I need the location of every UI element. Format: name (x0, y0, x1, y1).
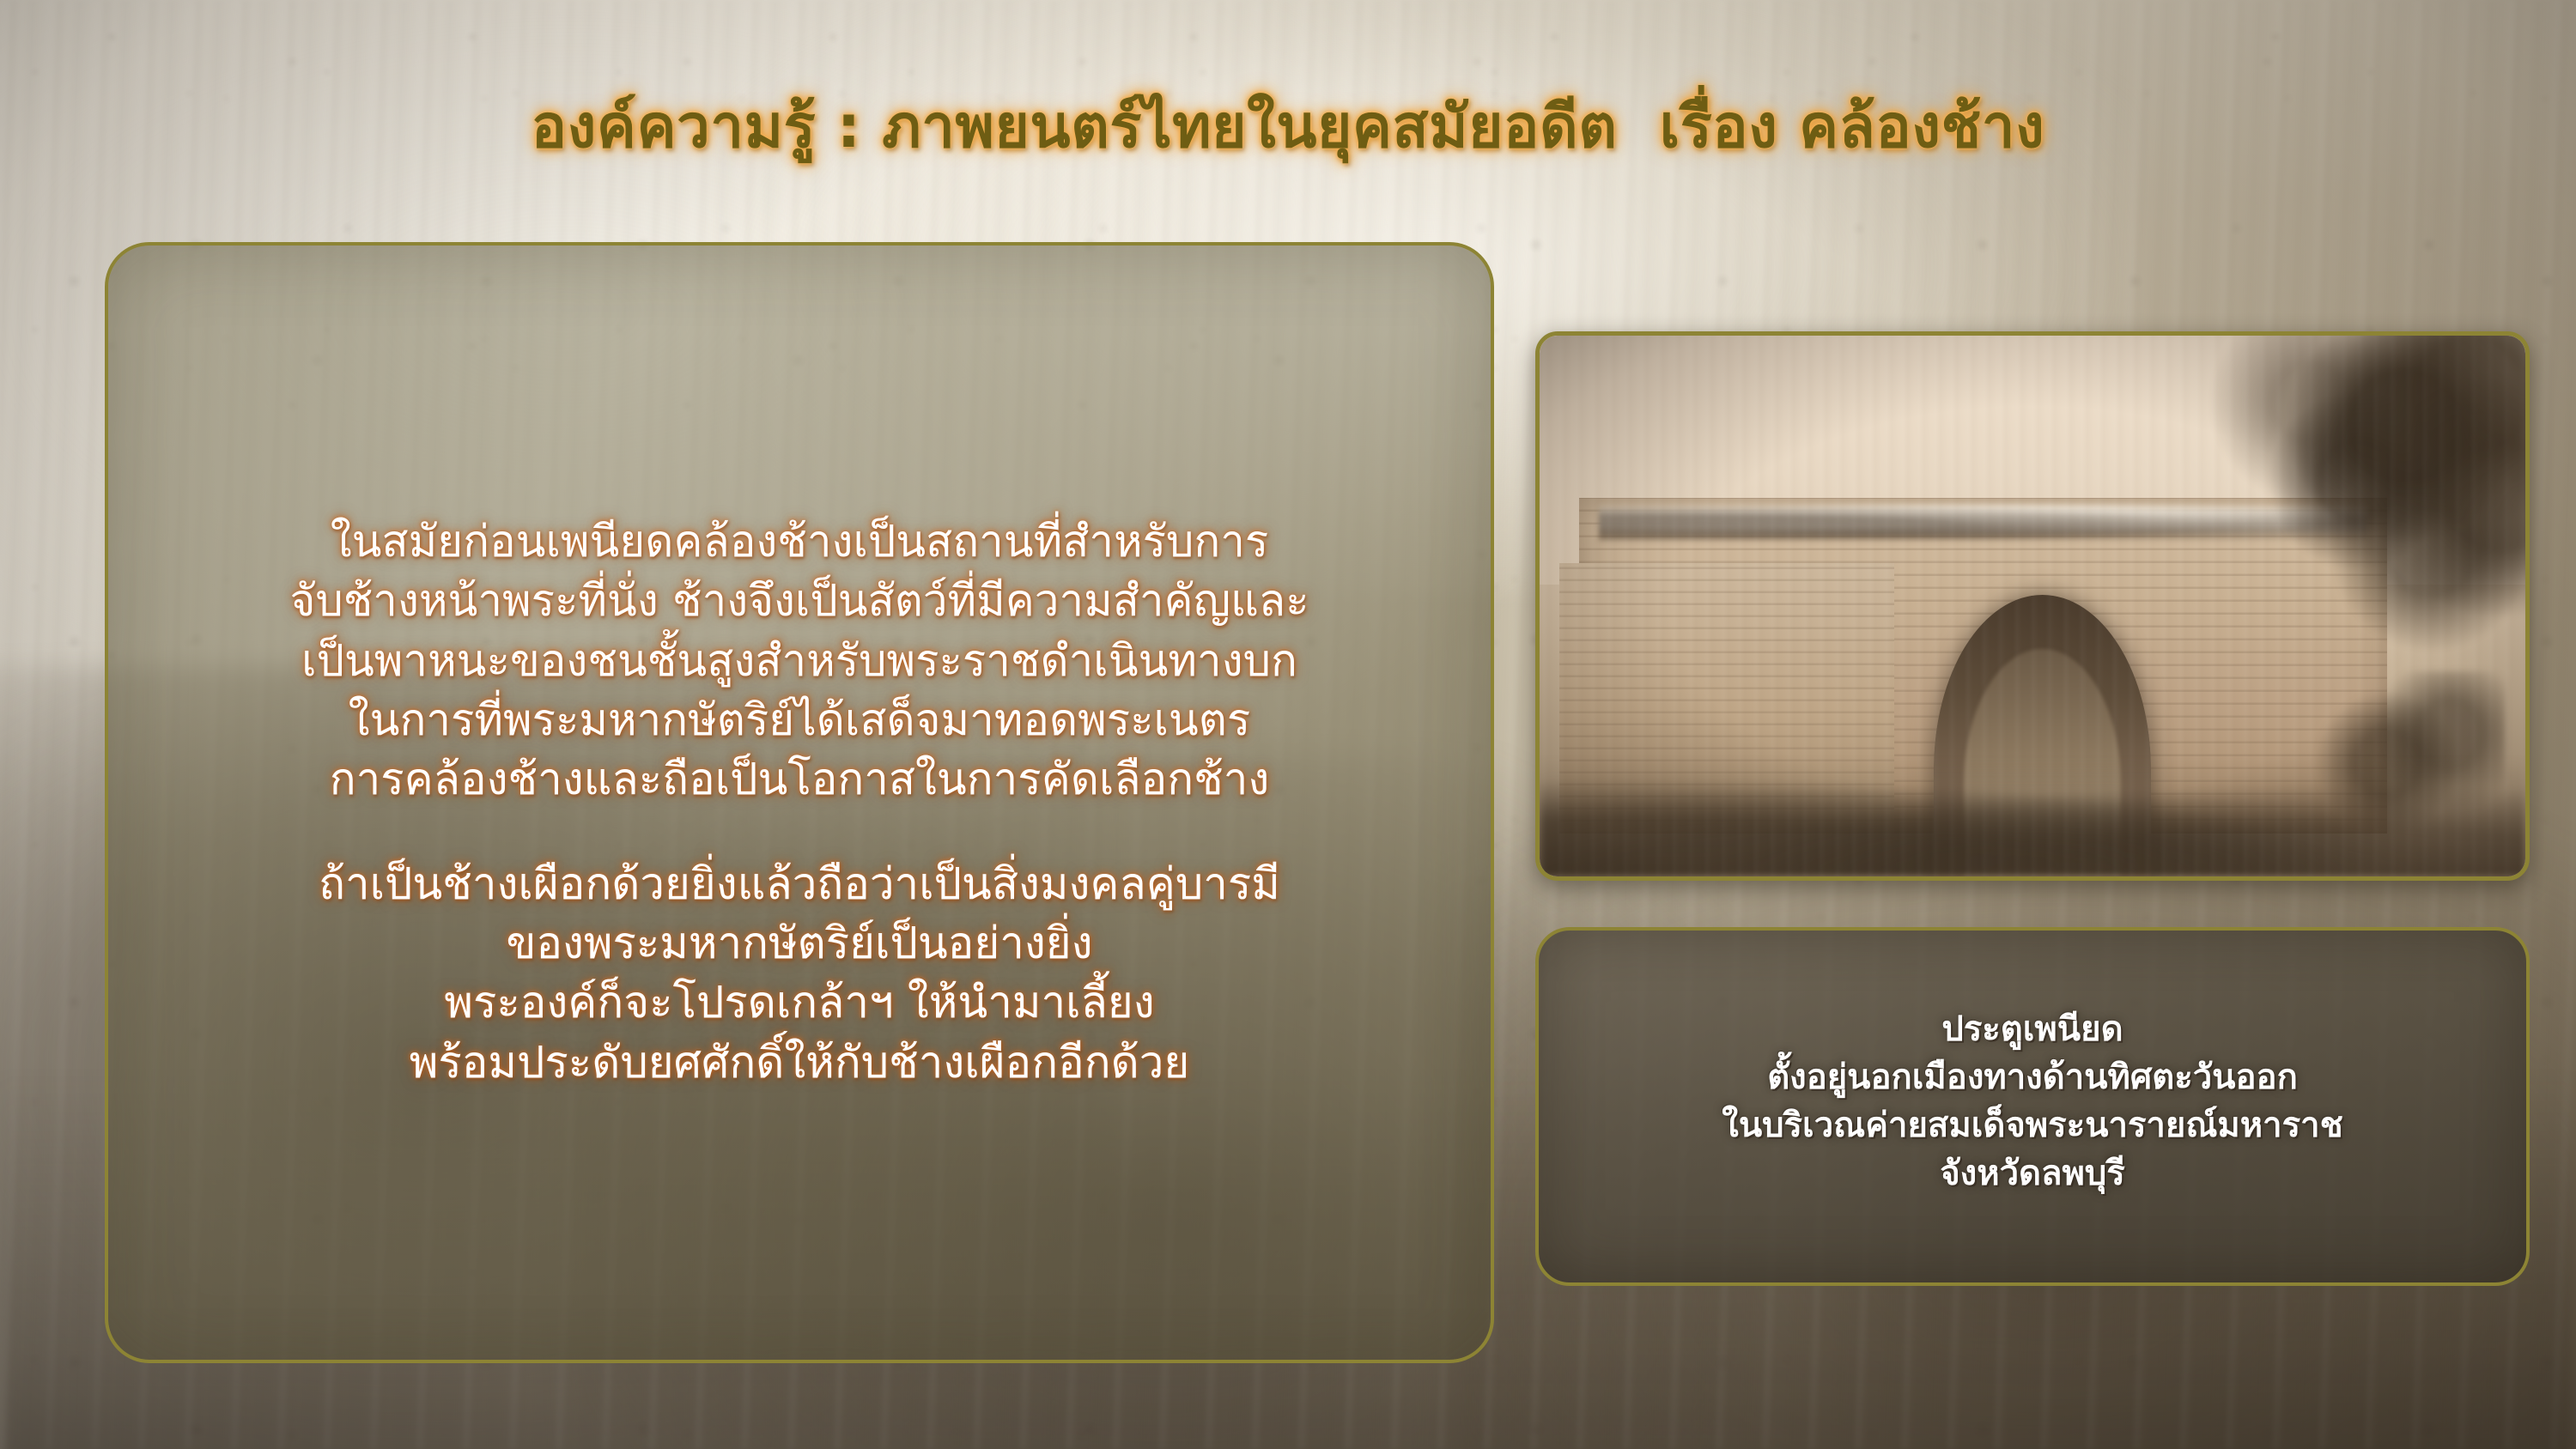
body-paragraph-2: ถ้าเป็นช้างเผือกด้วยยิ่งแล้วถือว่าเป็นสิ… (149, 855, 1449, 1093)
body-line: ในสมัยก่อนเพนียดคล้องช้างเป็นสถานที่สำหร… (149, 512, 1449, 572)
photo-caption-panel: ประตูเพนียด ตั้งอยู่นอกเมืองทางด้านทิศตะ… (1535, 927, 2530, 1286)
photo-vignette (1540, 336, 2525, 876)
presentation-slide: องค์ความรู้ : ภาพยนตร์ไทยในยุคสมัยอดีต เ… (0, 0, 2576, 1449)
caption-line: ในบริเวณค่ายสมเด็จพระนารายณ์มหาราช (1722, 1101, 2342, 1149)
photo-frame (1535, 331, 2530, 881)
caption-line: จังหวัดลพบุรี (1940, 1149, 2125, 1197)
body-line: ของพระมหากษัตริย์เป็นอย่างยิ่ง (149, 914, 1449, 973)
body-text-container: ในสมัยก่อนเพนียดคล้องช้างเป็นสถานที่สำหร… (108, 246, 1491, 1360)
body-line: ถ้าเป็นช้างเผือกด้วยยิ่งแล้วถือว่าเป็นสิ… (149, 855, 1449, 914)
body-text-panel: ในสมัยก่อนเพนียดคล้องช้างเป็นสถานที่สำหร… (105, 242, 1494, 1363)
caption-line-title: ประตูเพนียด (1941, 1005, 2123, 1053)
body-line: เป็นพาหนะของชนชั้นสูงสำหรับพระราชดำเนินท… (149, 632, 1449, 691)
body-paragraph-1: ในสมัยก่อนเพนียดคล้องช้างเป็นสถานที่สำหร… (149, 512, 1449, 810)
caption-line: ตั้งอยู่นอกเมืองทางด้านทิศตะวันออก (1767, 1053, 2298, 1101)
historical-gateway-photo (1540, 336, 2525, 876)
body-line: พระองค์ก็จะโปรดเกล้าฯ ให้นำมาเลี้ยง (149, 973, 1449, 1033)
body-line: การคล้องช้างและถือเป็นโอกาสในการคัดเลือก… (149, 750, 1449, 809)
page-title: องค์ความรู้ : ภาพยนตร์ไทยในยุคสมัยอดีต เ… (0, 93, 2576, 162)
body-line: จับช้างหน้าพระที่นั่ง ช้างจึงเป็นสัตว์ที… (149, 572, 1449, 631)
body-line: พร้อมประดับยศศักดิ์ให้กับช้างเผือกอีกด้ว… (149, 1034, 1449, 1093)
body-line: ในการที่พระมหากษัตริย์ได้เสด็จมาทอดพระเน… (149, 691, 1449, 750)
